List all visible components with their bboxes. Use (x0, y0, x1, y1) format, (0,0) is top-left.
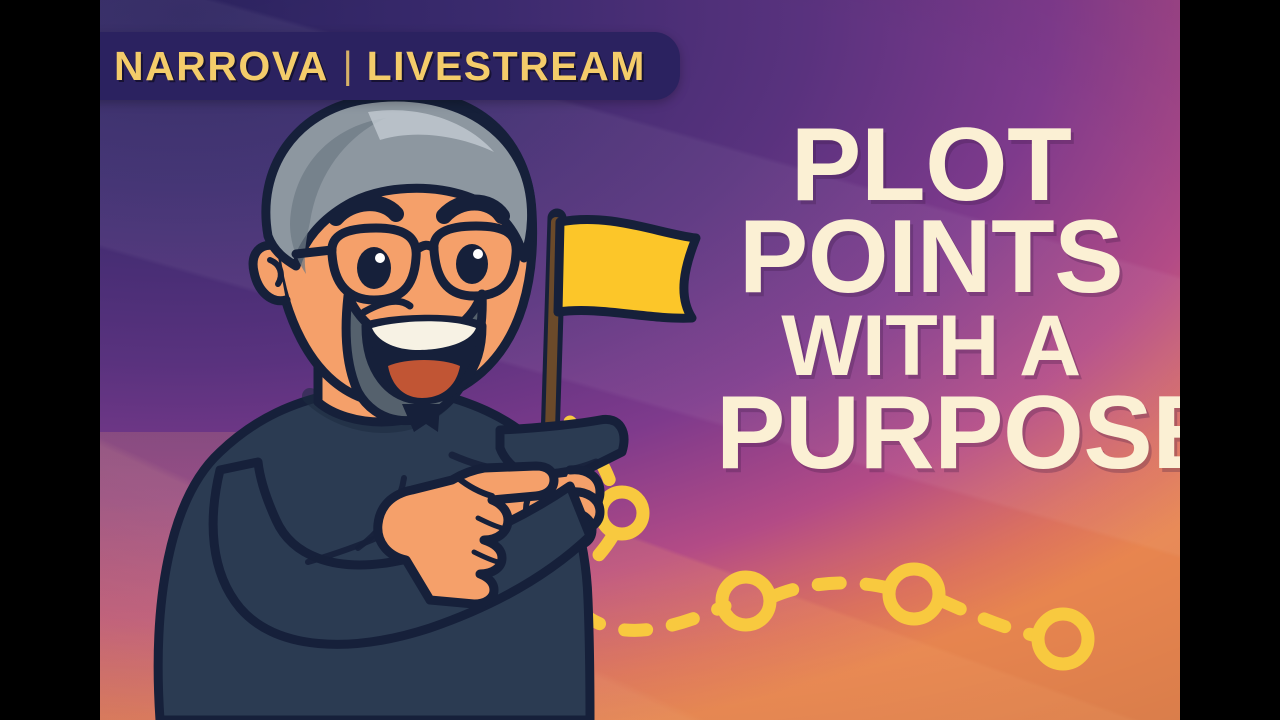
eye-left (357, 247, 391, 289)
badge-brand-label: NARROVA (114, 43, 329, 90)
badge-separator: | (343, 45, 353, 88)
character-illustration (100, 0, 1180, 720)
thumbnail-canvas: NARROVA | LIVESTREAM PLOT POINTS WITH A … (0, 0, 1280, 720)
badge-type-label: LIVESTREAM (367, 43, 646, 90)
eye-left-highlight (375, 253, 385, 263)
letterbox-left (0, 0, 100, 720)
eye-right (456, 244, 488, 284)
thumbnail-content: NARROVA | LIVESTREAM PLOT POINTS WITH A … (100, 0, 1180, 720)
eye-right-highlight (473, 249, 483, 259)
flag-banner-icon (558, 219, 696, 318)
letterbox-right (1180, 0, 1280, 720)
livestream-badge[interactable]: NARROVA | LIVESTREAM (100, 32, 680, 100)
